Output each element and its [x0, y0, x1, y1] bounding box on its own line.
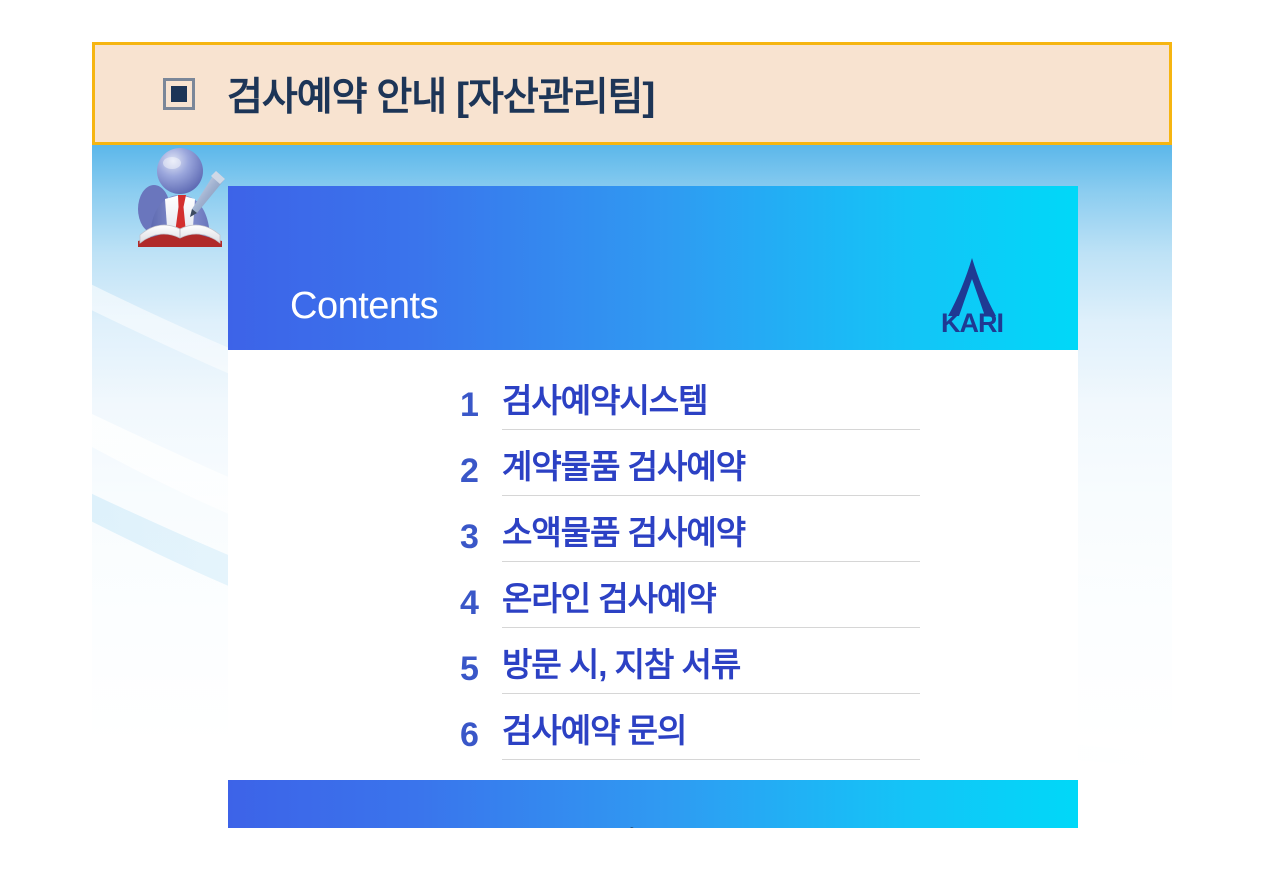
list-item-number: 2 — [460, 454, 502, 496]
list-item-label: 검사예약시스템 — [502, 374, 920, 422]
list-item-number: 3 — [460, 520, 502, 562]
list-item-number: 4 — [460, 586, 502, 628]
contents-heading: Contents — [290, 285, 438, 328]
list-item-label: 방문 시, 지참 서류 — [502, 638, 920, 686]
list-item-number: 6 — [460, 718, 502, 760]
list-item[interactable]: 5 방문 시, 지참 서류 — [228, 628, 1078, 694]
slide: 검사예약 안내 [자산관리팀] — [92, 42, 1172, 828]
contents-footer-bar — [228, 780, 1078, 828]
person-with-book-and-pen-icon — [120, 137, 238, 247]
contents-header-bar: Contents KARI — [228, 186, 1078, 350]
list-item[interactable]: 4 온라인 검사예약 — [228, 562, 1078, 628]
svg-text:KARI: KARI — [941, 308, 1003, 336]
page-number: 9 — [92, 824, 1172, 828]
list-item-number: 1 — [460, 388, 502, 430]
list-item[interactable]: 3 소액물품 검사예약 — [228, 496, 1078, 562]
contents-list: 1 검사예약시스템 2 계약물품 검사예약 3 소액물품 검사예약 4 — [228, 350, 1078, 768]
kari-logo-icon: KARI — [918, 254, 1026, 336]
list-item-underline: 검사예약시스템 — [502, 374, 920, 430]
list-item-underline: 검사예약 문의 — [502, 704, 920, 760]
page-title: 검사예약 안내 [자산관리팀] — [227, 66, 654, 122]
list-item[interactable]: 6 검사예약 문의 — [228, 694, 1078, 760]
list-item[interactable]: 1 검사예약시스템 — [228, 364, 1078, 430]
list-item-label: 소액물품 검사예약 — [502, 506, 920, 554]
filled-square-bullet-icon — [163, 78, 195, 110]
list-item-underline: 소액물품 검사예약 — [502, 506, 920, 562]
list-item-label: 계약물품 검사예약 — [502, 440, 920, 488]
list-item-underline: 온라인 검사예약 — [502, 572, 920, 628]
list-item-number: 5 — [460, 652, 502, 694]
slide-header-banner: 검사예약 안내 [자산관리팀] — [92, 42, 1172, 145]
list-item-underline: 계약물품 검사예약 — [502, 440, 920, 496]
list-item-label: 온라인 검사예약 — [502, 572, 920, 620]
list-item-label: 검사예약 문의 — [502, 704, 920, 752]
list-item[interactable]: 2 계약물품 검사예약 — [228, 430, 1078, 496]
contents-panel: Contents KARI 1 검사예약시스템 2 계약물품 검사예약 3 — [228, 186, 1078, 828]
list-item-underline: 방문 시, 지참 서류 — [502, 638, 920, 694]
